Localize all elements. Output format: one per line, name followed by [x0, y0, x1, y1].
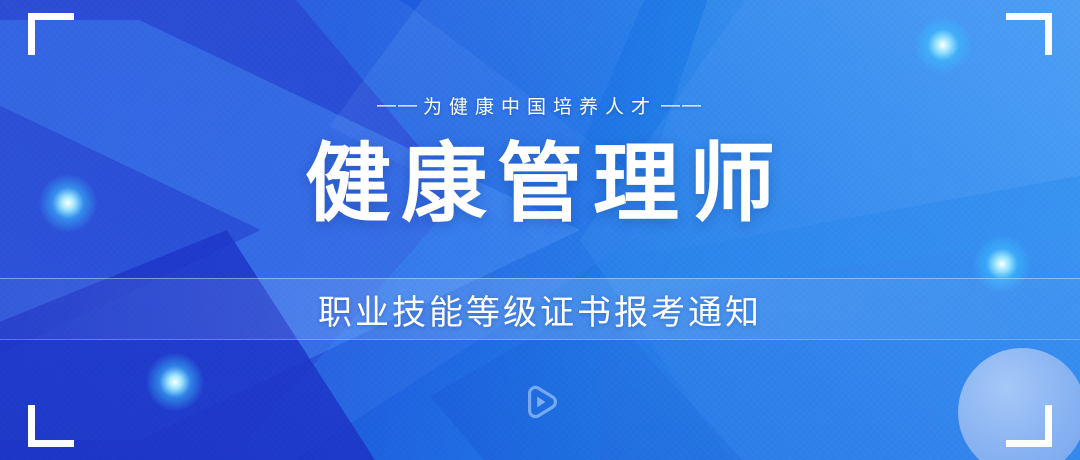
banner-title: 健康管理师: [295, 141, 785, 229]
banner-eyebrow: —— 为健康中国培养人才 ——: [377, 92, 703, 119]
promo-banner: —— 为健康中国培养人才 —— 健康管理师 职业技能等级证书报考通知 —— 为 …: [0, 0, 1080, 460]
eyebrow-dash-right: ——: [661, 95, 703, 117]
banner-subtitle: 职业技能等级证书报考通知: [0, 278, 1080, 340]
eyebrow-text: 为健康中国培养人才: [419, 92, 661, 119]
eyebrow-dash-left: ——: [377, 95, 419, 117]
play-icon[interactable]: [522, 384, 558, 420]
